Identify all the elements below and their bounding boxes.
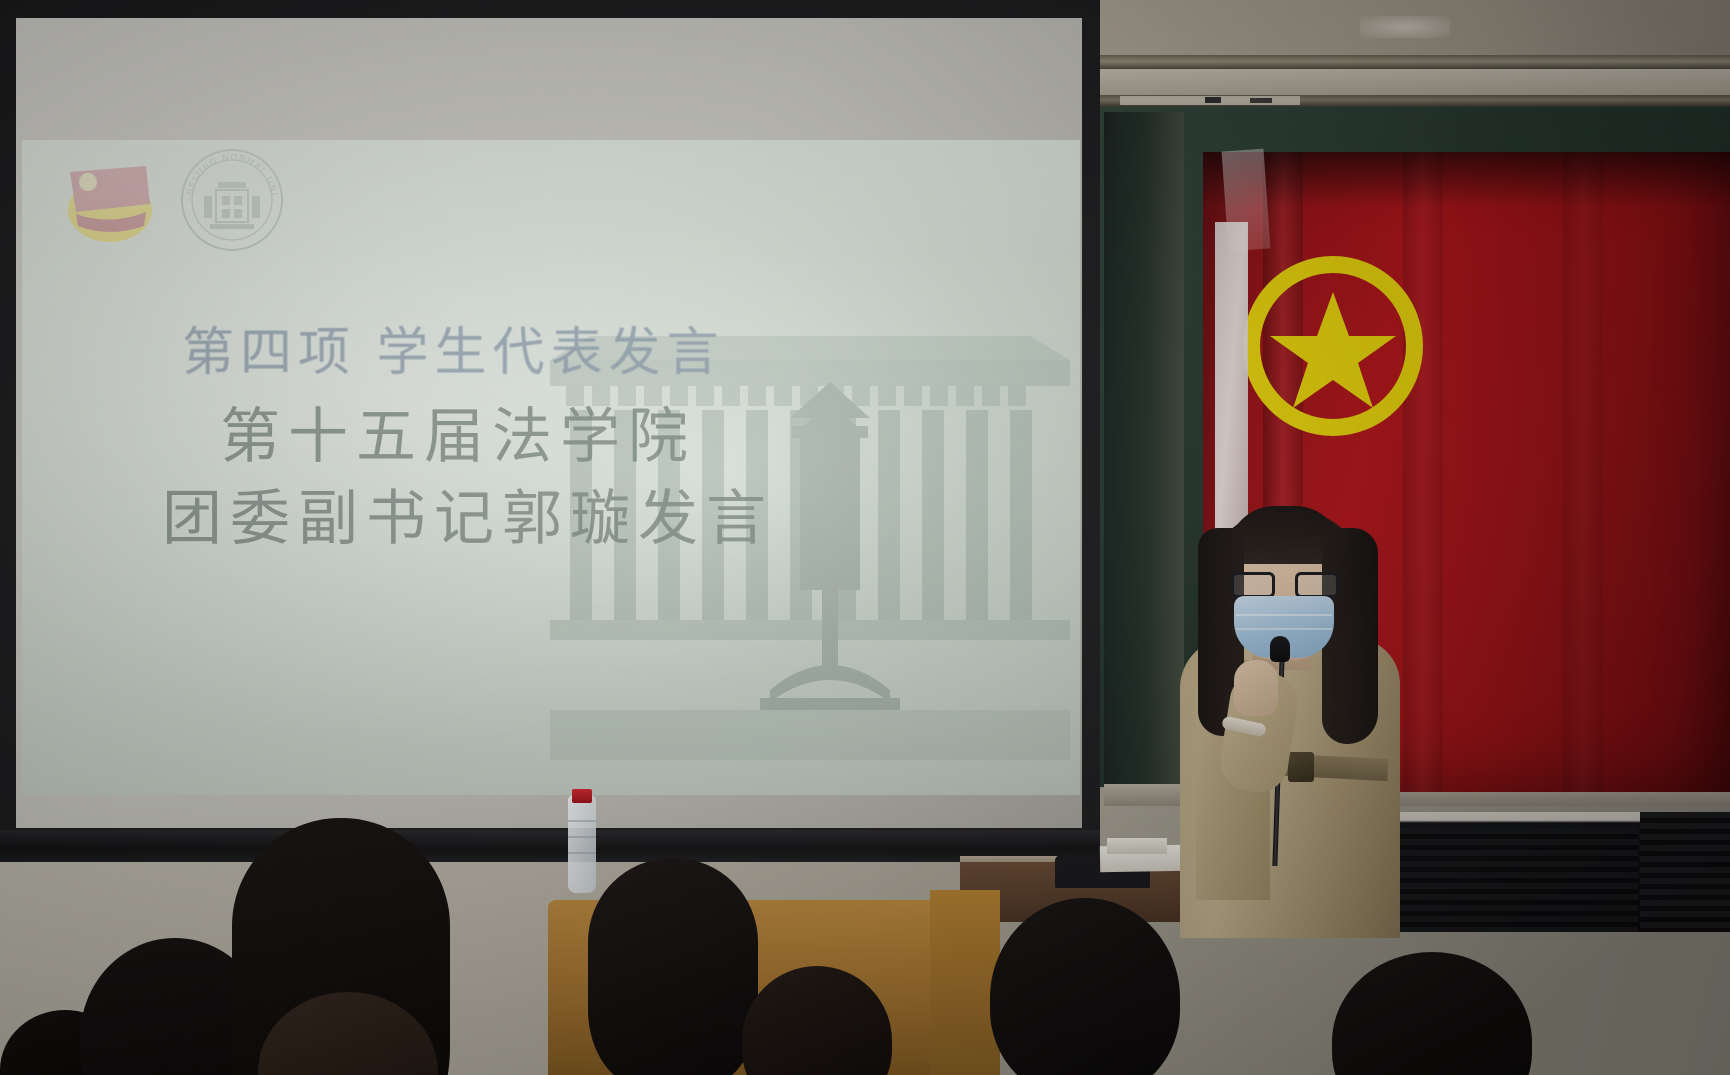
mask-fold <box>1236 614 1332 616</box>
podium-side-panel <box>930 890 1000 1075</box>
louver-panel <box>1640 812 1730 932</box>
chalkboard-frame <box>1104 112 1184 784</box>
slide-vignette <box>22 140 1080 795</box>
youth-league-star-emblem-icon <box>1243 256 1423 436</box>
presentation-slide: BEIJING NORMAL UNIVERSITY 第四项 学生代表发言 第十五… <box>22 140 1080 795</box>
speaker-glasses <box>1231 572 1339 598</box>
chalkboard-top-rail <box>1097 55 1730 69</box>
mask-fold <box>1236 628 1332 630</box>
audience-head <box>588 858 758 1075</box>
laptop-screen <box>1392 828 1638 932</box>
water-bottle-cap <box>572 789 592 803</box>
chalk-piece <box>1250 98 1272 103</box>
microphone-icon <box>1270 636 1290 662</box>
flag-top-shadow <box>1203 152 1730 207</box>
speaker-hand <box>1234 660 1278 716</box>
eraser <box>1205 97 1221 103</box>
projection-screen-bottom-bar <box>0 830 1100 862</box>
paper-sheet <box>1107 838 1167 854</box>
wall-scuff-mark <box>1360 16 1450 38</box>
classroom-scene: BEIJING NORMAL UNIVERSITY 第四项 学生代表发言 第十五… <box>0 0 1730 1075</box>
water-bottle <box>568 795 596 893</box>
speaker-belt-buckle <box>1288 752 1314 782</box>
chalkboard-upper-band <box>1097 69 1730 95</box>
